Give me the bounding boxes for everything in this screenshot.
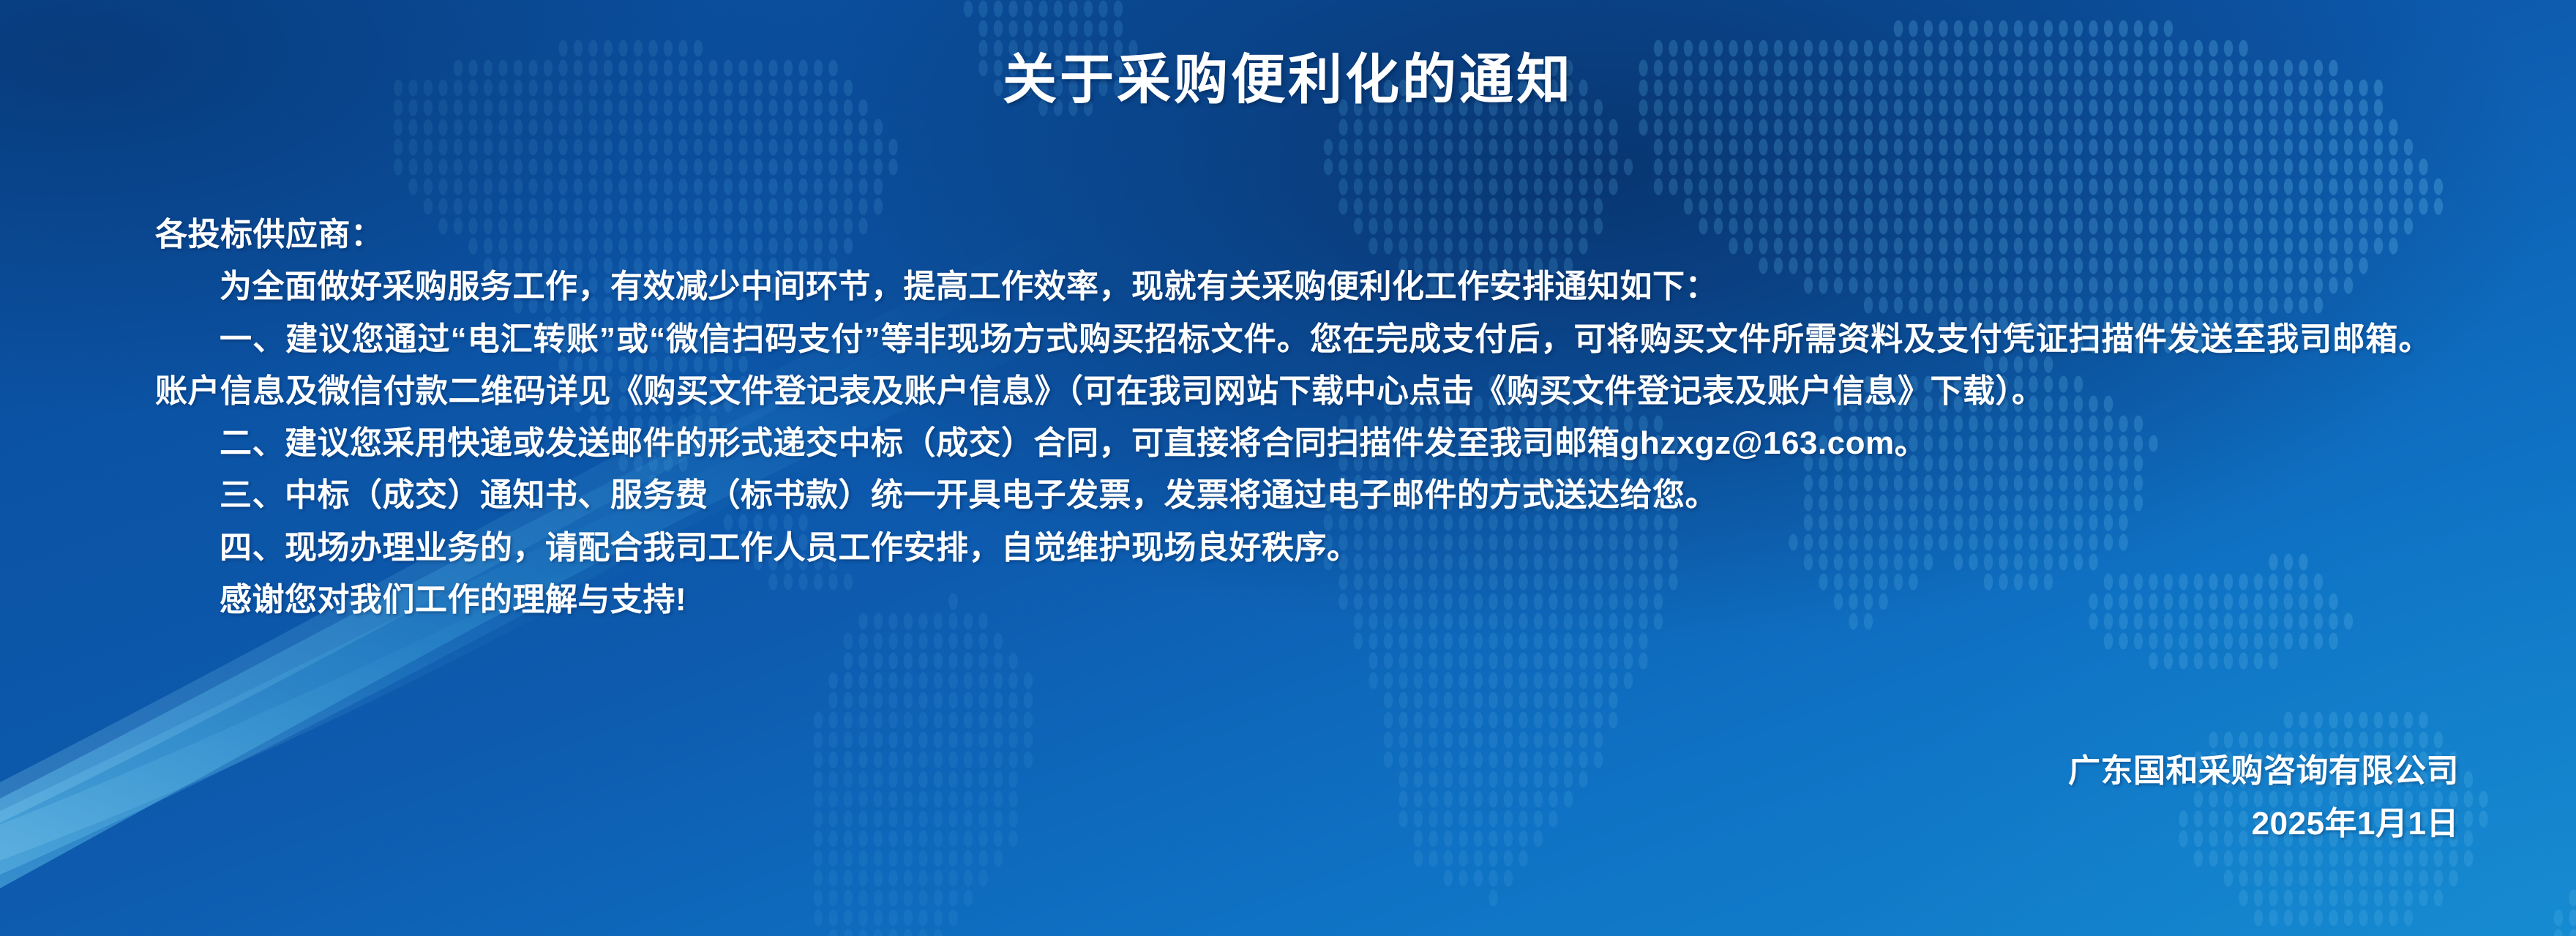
notice-paragraph-item-2: 二、建议您采用快递或发送邮件的形式递交中标（成交）合同，可直接将合同扫描件发至我… xyxy=(155,417,2431,469)
notice-paragraph-item-4: 四、现场办理业务的，请配合我司工作人员工作安排，自觉维护现场良好秩序。 xyxy=(155,522,2431,574)
signature-block: 广东国和采购咨询有限公司 2025年1月1日 xyxy=(2068,745,2459,850)
signature-company: 广东国和采购咨询有限公司 xyxy=(2068,745,2459,797)
notice-content: 关于采购便利化的通知 各投标供应商： 为全面做好采购服务工作，有效减少中间环节，… xyxy=(0,0,2576,936)
notice-paragraph-item-1: 一、建议您通过“电汇转账”或“微信扫码支付”等非现场方式购买招标文件。您在完成支… xyxy=(155,313,2431,418)
page-title: 关于采购便利化的通知 xyxy=(0,53,2576,107)
notice-body: 各投标供应商： 为全面做好采购服务工作，有效减少中间环节，提高工作效率，现就有关… xyxy=(155,209,2431,626)
notice-closing: 感谢您对我们工作的理解与支持! xyxy=(155,574,2431,626)
signature-date: 2025年1月1日 xyxy=(2068,798,2459,850)
notice-paragraph-item-3: 三、中标（成交）通知书、服务费（标书款）统一开具电子发票，发票将通过电子邮件的方… xyxy=(155,469,2431,521)
notice-banner: 关于采购便利化的通知 各投标供应商： 为全面做好采购服务工作，有效减少中间环节，… xyxy=(0,0,2576,936)
notice-paragraph-intro: 为全面做好采购服务工作，有效减少中间环节，提高工作效率，现就有关采购便利化工作安… xyxy=(155,261,2431,312)
salutation: 各投标供应商： xyxy=(155,209,2431,261)
